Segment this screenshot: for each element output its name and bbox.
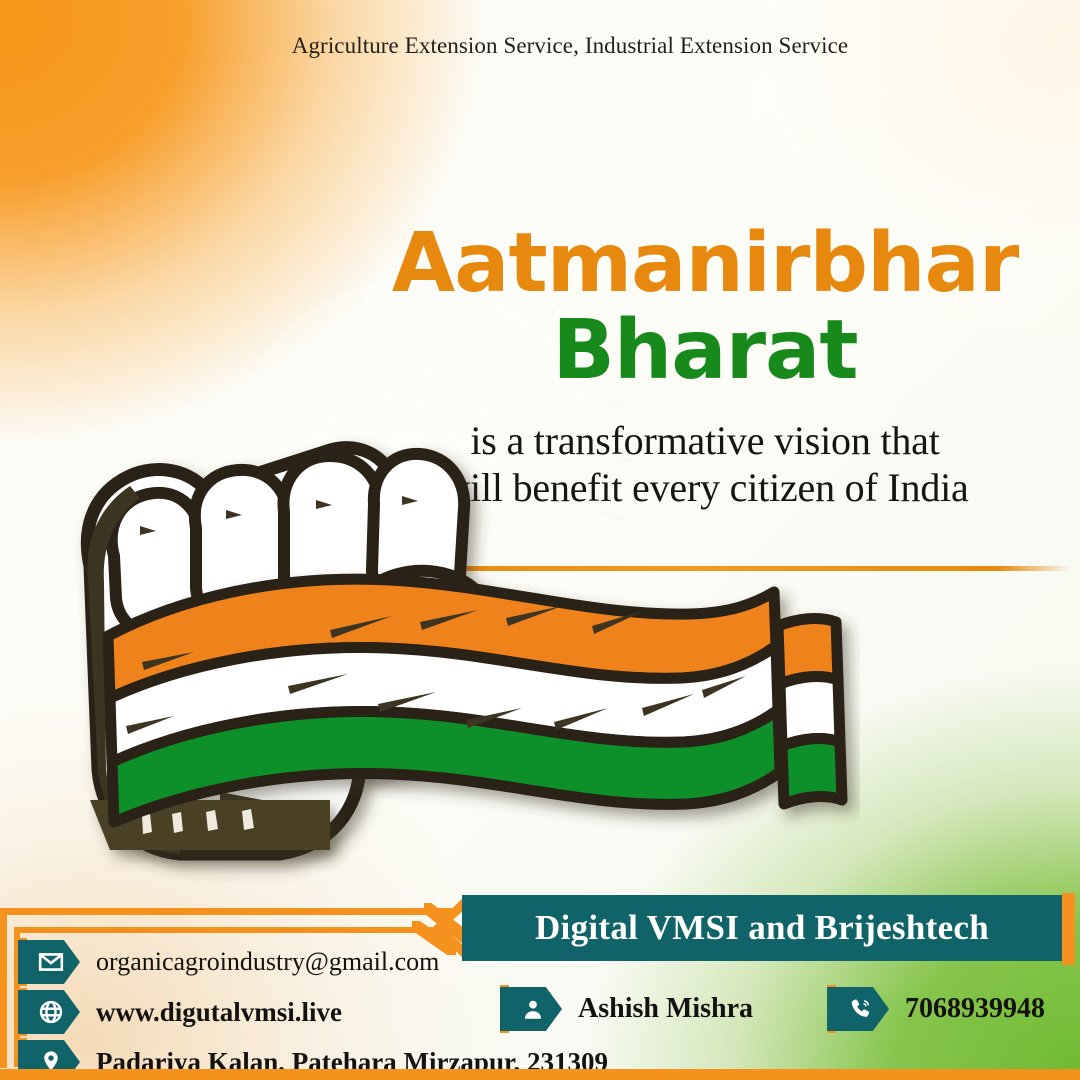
headline-line-1: Aatmanirbhar	[340, 225, 1070, 304]
indian-tricolor-flag-icon	[90, 579, 842, 850]
contact-extra-list: Ashish Mishra 7068939948	[500, 987, 1080, 1031]
person-badge	[500, 987, 562, 1031]
globe-badge	[18, 990, 80, 1034]
header-tagline: Agriculture Extension Service, Industria…	[232, 33, 848, 59]
contact-phone-number: 7068939948	[905, 993, 1045, 1025]
contact-email: organicagroindustry@gmail.com	[96, 947, 439, 977]
phone-icon	[847, 996, 873, 1022]
contact-row-person[interactable]: Ashish Mishra	[500, 987, 753, 1031]
header-strip: Agriculture Extension Service, Industria…	[0, 0, 1080, 92]
footer-contact-bar: Digital VMSI and Brijeshtech organicagro…	[0, 895, 1080, 1080]
contact-person-name: Ashish Mishra	[578, 993, 753, 1025]
footer-bottom-accent-bar	[0, 1069, 1080, 1080]
person-icon	[520, 996, 546, 1022]
fist-and-flag-artwork	[30, 330, 860, 890]
bracket-line-top	[0, 908, 452, 915]
contact-row-phone[interactable]: 7068939948	[827, 987, 1045, 1031]
poster-canvas: Agriculture Extension Service, Industria…	[0, 0, 1080, 1080]
contact-website: www.digutalvmsi.live	[96, 997, 342, 1028]
bracket-line-left-outer	[0, 908, 7, 1068]
contact-row-email[interactable]: organicagroindustry@gmail.com	[18, 939, 718, 985]
envelope-icon	[38, 949, 64, 975]
bracket-line-top-inner	[14, 927, 438, 933]
phone-badge	[827, 987, 889, 1031]
envelope-badge	[18, 940, 80, 984]
globe-icon	[38, 999, 64, 1025]
banner-right-accent-bar	[1062, 893, 1075, 965]
